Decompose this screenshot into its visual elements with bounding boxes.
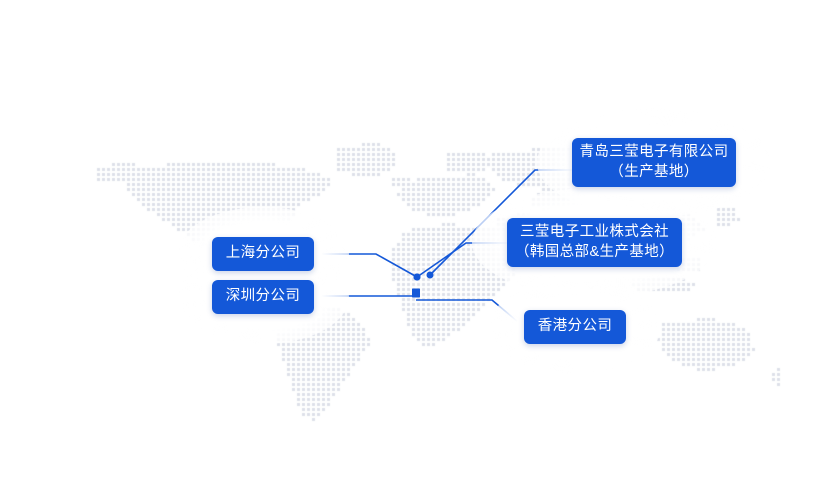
location-label-qingdao-line-1: 青岛三莹电子有限公司: [580, 143, 729, 162]
dotted-world-map: [0, 0, 824, 480]
marker-dot-shanghai[interactable]: [414, 274, 421, 281]
location-label-hongkong[interactable]: 香港分公司: [524, 310, 626, 344]
location-label-shanghai[interactable]: 上海分公司: [212, 237, 314, 271]
location-label-shenzhen-line-1: 深圳分公司: [226, 287, 301, 306]
location-label-qingdao[interactable]: 青岛三莹电子有限公司（生产基地）: [572, 138, 736, 187]
location-label-qingdao-line-2: （生产基地）: [609, 163, 698, 182]
marker-dot-hongkong[interactable]: [412, 289, 420, 298]
location-label-korea-hq-line-2: （韩国总部&生产基地）: [515, 243, 674, 262]
location-label-korea-hq[interactable]: 三莹电子工业株式会社（韩国总部&生产基地）: [507, 218, 682, 267]
location-label-shanghai-line-1: 上海分公司: [226, 244, 301, 263]
location-label-hongkong-line-1: 香港分公司: [538, 317, 613, 336]
world-map-infographic: 青岛三莹电子有限公司（生产基地）三莹电子工业株式会社（韩国总部&生产基地）上海分…: [0, 0, 824, 480]
location-label-korea-hq-line-1: 三莹电子工业株式会社: [520, 223, 669, 242]
location-label-shenzhen[interactable]: 深圳分公司: [212, 280, 314, 314]
marker-dot-qingdao[interactable]: [427, 272, 434, 279]
